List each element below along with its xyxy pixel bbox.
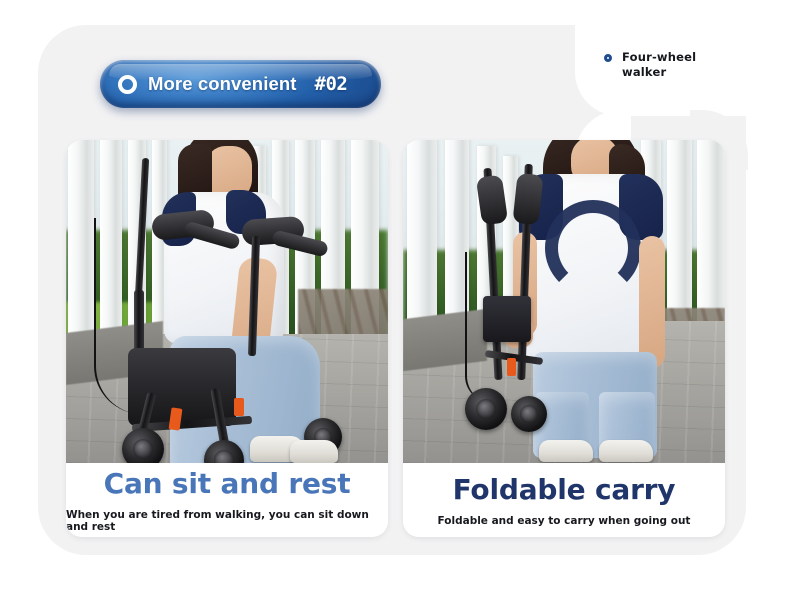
- panel-subtitle: Foldable and easy to carry when going ou…: [438, 515, 691, 527]
- folded-walker-wheel-rear: [511, 396, 547, 432]
- shirt-logo-arc: [545, 200, 641, 296]
- ring-outline-icon: [604, 54, 612, 62]
- badge-number: #02: [315, 73, 348, 95]
- caption-sit-and-rest: Can sit and rest When you are tired from…: [66, 463, 388, 537]
- section-badge[interactable]: More convenient #02: [100, 60, 381, 108]
- folded-walker-handle-b: [512, 173, 543, 225]
- walker-release-lever-2: [234, 398, 244, 416]
- product-legend: Four-wheel walker: [604, 50, 696, 80]
- ring-icon: [118, 75, 137, 94]
- caption-foldable-carry: Foldable carry Foldable and easy to carr…: [403, 463, 725, 537]
- person-shoe-right: [599, 440, 653, 462]
- folded-walker-wheel-front: [465, 388, 507, 430]
- panel-subtitle: When you are tired from walking, you can…: [66, 509, 388, 533]
- person-shoe-left: [539, 440, 593, 462]
- panel-title: Can sit and rest: [104, 467, 351, 500]
- legend-text-block: Four-wheel walker: [622, 50, 696, 80]
- feature-panel-foldable-carry[interactable]: Foldable carry Foldable and easy to carr…: [403, 140, 725, 537]
- person-shoe-right: [290, 440, 338, 463]
- feature-panel-sit-and-rest[interactable]: Can sit and rest When you are tired from…: [66, 140, 388, 537]
- panel-title: Foldable carry: [453, 473, 676, 506]
- legend-line-2: walker: [622, 65, 696, 80]
- walker-wheel-front-left: [122, 428, 164, 463]
- photo-sit-and-rest: [66, 140, 388, 463]
- badge-label: More convenient: [148, 73, 297, 95]
- folded-walker-lever: [507, 358, 516, 376]
- promo-card-stage: More convenient #02 Four-wheel walker: [0, 0, 790, 610]
- person-arm-right: [639, 236, 665, 368]
- folded-walker-pouch: [483, 296, 531, 342]
- photo-foldable-carry: [403, 140, 725, 463]
- legend-line-1: Four-wheel: [622, 50, 696, 65]
